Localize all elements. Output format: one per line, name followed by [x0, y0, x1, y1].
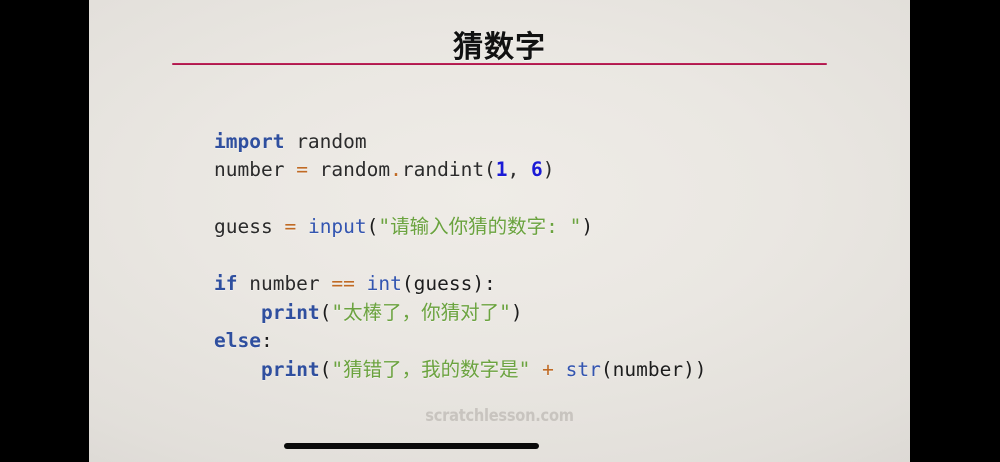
code-token-punc: : — [261, 329, 273, 352]
code-token-punc: (number)) — [601, 358, 707, 381]
code-token-plain: random — [308, 158, 390, 181]
code-token-plain: guess — [214, 215, 284, 238]
code-token-plain: , — [508, 158, 531, 181]
code-token-op: = — [284, 215, 296, 238]
code-token-plain — [296, 215, 308, 238]
python-code-block: import randomnumber = random.randint(1, … — [214, 128, 707, 385]
code-token-builtin: int — [367, 272, 402, 295]
code-line: if number == int(guess): — [214, 270, 707, 299]
code-token-punc: ) — [581, 215, 593, 238]
code-token-punc: (guess): — [402, 272, 496, 295]
code-token-plain: number — [237, 272, 331, 295]
code-line: else: — [214, 327, 707, 356]
code-token-op: . — [390, 158, 402, 181]
code-token-plain: number — [214, 158, 296, 181]
code-token-num: 1 — [496, 158, 508, 181]
code-line: print("猜错了，我的数字是" + str(number)) — [214, 356, 707, 385]
code-token-plain — [554, 358, 566, 381]
code-token-kw: if — [214, 272, 237, 295]
code-token-str: "猜错了，我的数字是" — [331, 358, 530, 381]
code-token-plain — [355, 272, 367, 295]
code-token-builtin: input — [308, 215, 367, 238]
code-token-kw: else — [214, 329, 261, 352]
code-token-fn: print — [261, 358, 320, 381]
code-token-plain — [214, 358, 261, 381]
code-token-op: == — [331, 272, 354, 295]
code-token-plain — [214, 301, 261, 324]
code-token-plain: random — [284, 130, 366, 153]
code-token-op: = — [296, 158, 308, 181]
site-watermark: scratchlesson.com — [146, 406, 852, 426]
code-line — [214, 242, 707, 271]
code-token-plain: randint( — [402, 158, 496, 181]
code-token-op: + — [542, 358, 554, 381]
title-divider-rule — [172, 63, 827, 65]
page-title: 猜数字 — [89, 22, 910, 66]
code-token-punc: ( — [320, 301, 332, 324]
presentation-slide: 猜数字 import randomnumber = random.randint… — [89, 0, 910, 462]
code-token-fn: print — [261, 301, 320, 324]
code-line — [214, 185, 707, 214]
code-line: print("太棒了，你猜对了") — [214, 299, 707, 328]
home-indicator-bar[interactable] — [284, 443, 539, 449]
code-token-punc: ( — [320, 358, 332, 381]
letterbox-bar-left — [0, 0, 89, 462]
code-token-kw: import — [214, 130, 284, 153]
code-token-str: "请输入你猜的数字: " — [378, 215, 581, 238]
code-line: number = random.randint(1, 6) — [214, 156, 707, 185]
code-token-punc: ( — [367, 215, 379, 238]
code-token-num: 6 — [531, 158, 543, 181]
code-token-str: "太棒了，你猜对了" — [331, 301, 510, 324]
code-token-punc: ) — [511, 301, 523, 324]
code-line: guess = input("请输入你猜的数字: ") — [214, 213, 707, 242]
video-player-screen: 猜数字 import randomnumber = random.randint… — [0, 0, 1000, 462]
code-line: import random — [214, 128, 707, 157]
code-token-plain: ) — [543, 158, 555, 181]
letterbox-bar-right — [910, 0, 1000, 462]
code-token-plain — [530, 358, 542, 381]
code-token-builtin: str — [566, 358, 601, 381]
